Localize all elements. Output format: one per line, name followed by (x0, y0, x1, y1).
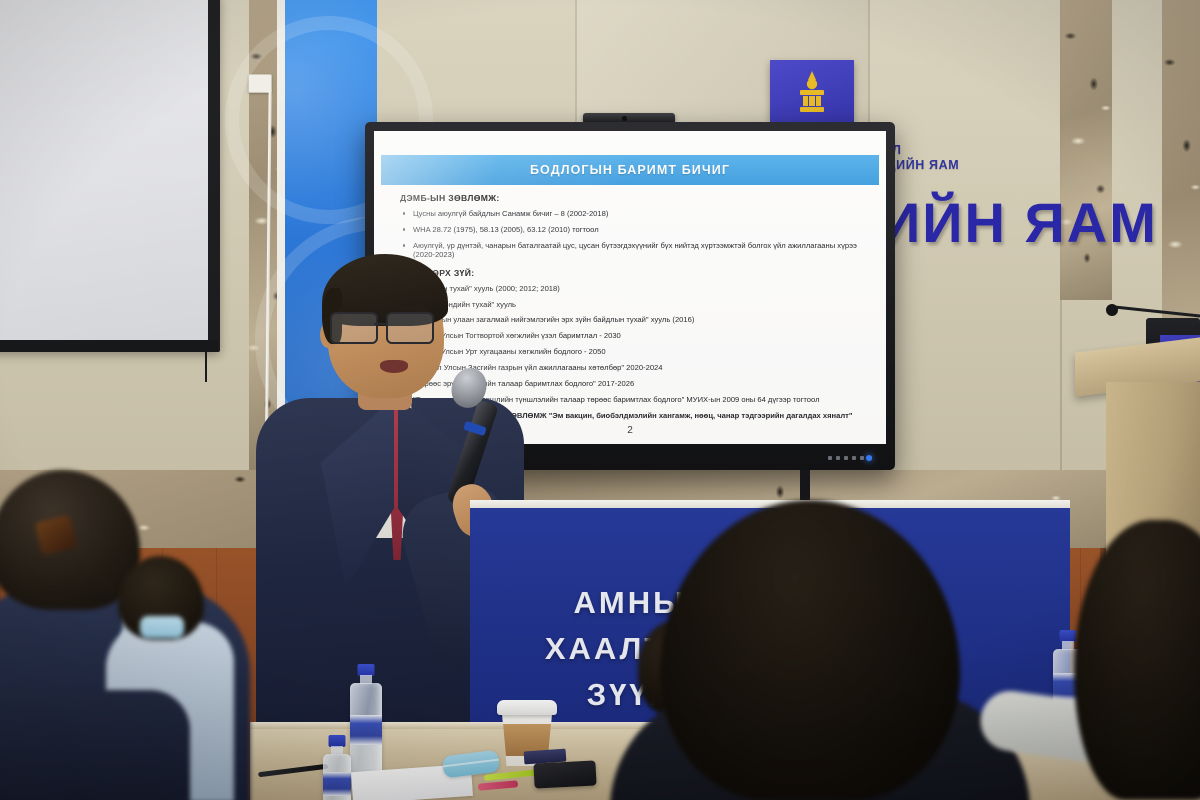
granite-column-mid (1060, 0, 1112, 300)
slide-bullet: Цусны аюулгүй байдлын Санамж бичиг – 8 (… (400, 209, 870, 218)
water-bottle[interactable] (350, 664, 382, 782)
audience-member-right (1020, 520, 1200, 800)
bottle-label (350, 715, 382, 745)
smartphone[interactable] (533, 760, 596, 788)
glasses-lens-right (386, 312, 434, 344)
audience-shoulders (0, 690, 190, 800)
ministry-emblem-plaque (770, 60, 854, 122)
presenter-mouth (380, 360, 408, 373)
audience-hair (660, 500, 960, 800)
face-mask-worn (140, 616, 184, 638)
wall-sign-large: ИЙН ЯАМ (880, 190, 1158, 255)
cup-lid (497, 700, 557, 715)
conference-room-photo: ҮҮЛ НДИЙН ЯАМ ИЙН ЯАМ БОДЛОГЫН БАРИМТ БИ… (0, 0, 1200, 800)
slide-title-bar: БОДЛОГЫН БАРИМТ БИЧИГ (381, 155, 879, 185)
display-button[interactable] (860, 456, 864, 460)
slide-section-heading-1: ДЭМБ-ЫН ЗӨВЛӨМЖ: (400, 193, 870, 203)
wall-sign-small: ҮҮЛ НДИЙН ЯАМ (877, 143, 1007, 173)
wall-sign-small-line2: НДИЙН ЯАМ (877, 158, 1007, 173)
projection-screen-weight-bar (0, 340, 218, 352)
bottle-body (323, 754, 351, 800)
mask-pleat (443, 759, 499, 767)
projection-screen-edge (205, 352, 207, 382)
audience-hair (1074, 520, 1200, 800)
eyeglasses-icon (328, 312, 446, 342)
water-bottle[interactable] (323, 735, 351, 800)
wall-sign-small-line1: ҮҮЛ (877, 143, 1007, 158)
audience-member-bottom-left (0, 690, 180, 800)
display-button[interactable] (844, 456, 848, 460)
audience-member-center-foreground (620, 500, 1000, 800)
slide-bullet: WHA 28.72 (1975), 58.13 (2005), 63.12 (2… (400, 225, 870, 234)
soyombo-emblem-icon (791, 69, 833, 115)
display-button[interactable] (852, 456, 856, 460)
bottle-label (323, 772, 351, 796)
webcam-lens-icon (622, 116, 627, 121)
projection-screen-surface (0, 0, 208, 340)
display-button[interactable] (836, 456, 840, 460)
power-led-indicator (866, 455, 872, 461)
slide-title: БОДЛОГЫН БАРИМТ БИЧИГ (530, 163, 730, 177)
display-button[interactable] (828, 456, 832, 460)
glasses-lens-left (330, 312, 378, 344)
bottle-body (350, 683, 382, 782)
microphone-icon (1106, 304, 1118, 316)
